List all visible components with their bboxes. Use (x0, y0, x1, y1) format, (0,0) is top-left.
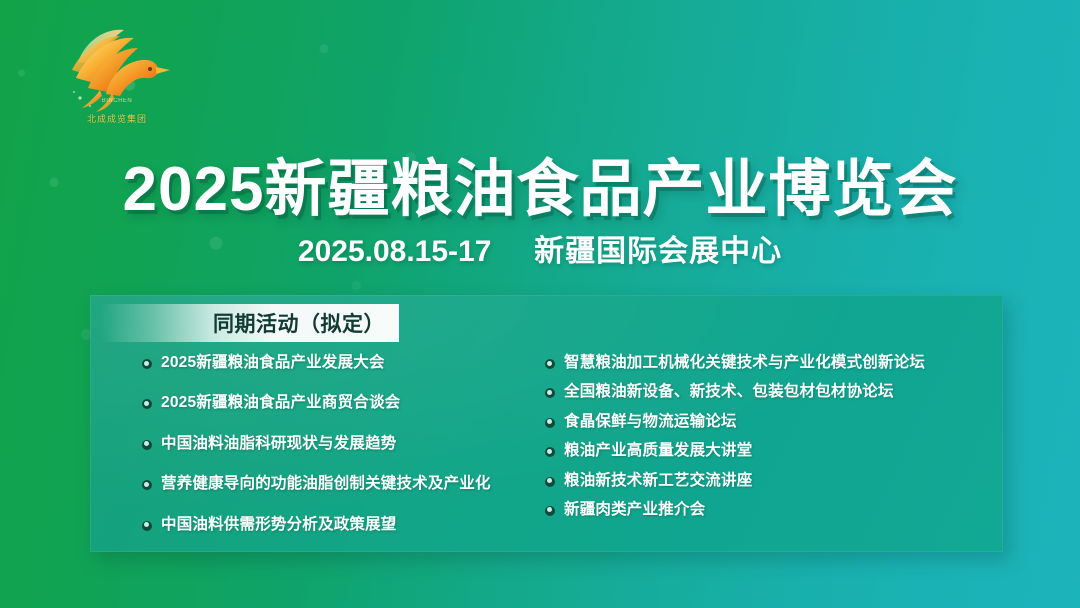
list-item[interactable]: 中国油料油脂科研现状与发展趋势 (142, 434, 545, 453)
bullet-icon (545, 506, 555, 516)
bullet-icon (545, 388, 555, 398)
poster-canvas: BINCHEN 北成成览集团 2025新疆粮油食品产业博览会 2025.08.1… (0, 0, 1080, 608)
bullet-icon (142, 480, 152, 490)
list-item[interactable]: 新疆肉类产业推介会 (545, 500, 1003, 519)
list-item[interactable]: 粮油产业高质量发展大讲堂 (545, 441, 1003, 460)
bullet-icon (142, 399, 152, 409)
event-venue: 新疆国际会展中心 (534, 235, 782, 268)
list-item-label: 营养健康导向的功能油脂创制关键技术及产业化 (161, 474, 491, 493)
bullet-icon (545, 418, 555, 428)
bullet-icon (545, 447, 555, 457)
activities-panel: 同期活动（拟定） 2025新疆粮油食品产业发展大会2025新疆粮油食品产业商贸合… (90, 295, 1003, 552)
list-item-label: 粮油产业高质量发展大讲堂 (564, 441, 752, 460)
section-banner: 同期活动（拟定） (100, 304, 399, 342)
list-item[interactable]: 食晶保鲜与物流运输论坛 (545, 412, 1003, 431)
bullet-icon (142, 440, 152, 450)
activities-left-column: 2025新疆粮油食品产业发展大会2025新疆粮油食品产业商贸合谈会中国油料油脂科… (90, 353, 545, 534)
event-subtitle: 2025.08.15-17 新疆国际会展中心 (0, 226, 1080, 270)
list-item-label: 智慧粮油加工机械化关键技术与产业化模式创新论坛 (564, 353, 925, 372)
activities-right-column: 智慧粮油加工机械化关键技术与产业化模式创新论坛全国粮油新设备、新技术、包装包材包… (545, 353, 1003, 534)
list-item-label: 中国油料油脂科研现状与发展趋势 (161, 434, 397, 453)
list-item-label: 中国油料供需形势分析及政策展望 (161, 515, 397, 534)
list-item[interactable]: 营养健康导向的功能油脂创制关键技术及产业化 (142, 474, 545, 493)
bullet-icon (545, 359, 555, 369)
list-item-label: 全国粮油新设备、新技术、包装包材包材协论坛 (564, 382, 894, 401)
list-item-label: 食晶保鲜与物流运输论坛 (564, 412, 737, 431)
list-item[interactable]: 粮油新技术新工艺交流讲座 (545, 471, 1003, 490)
logo: BINCHEN 北成成览集团 (62, 22, 172, 134)
list-item[interactable]: 全国粮油新设备、新技术、包装包材包材协论坛 (545, 382, 1003, 401)
list-item[interactable]: 2025新疆粮油食品产业发展大会 (142, 353, 545, 372)
bullet-icon (545, 477, 555, 487)
bullet-icon (142, 359, 152, 369)
bullet-icon (142, 521, 152, 531)
list-item[interactable]: 智慧粮油加工机械化关键技术与产业化模式创新论坛 (545, 353, 1003, 372)
activities-columns: 2025新疆粮油食品产业发展大会2025新疆粮油食品产业商贸合谈会中国油料油脂科… (90, 353, 1003, 534)
list-item-label: 2025新疆粮油食品产业发展大会 (161, 353, 385, 372)
page-title: 2025新疆粮油食品产业博览会 (0, 138, 1080, 228)
list-item[interactable]: 2025新疆粮油食品产业商贸合谈会 (142, 393, 545, 412)
list-item-label: 粮油新技术新工艺交流讲座 (564, 471, 752, 490)
logo-caption: 北成成览集团 (62, 112, 172, 125)
list-item[interactable]: 中国油料供需形势分析及政策展望 (142, 515, 545, 534)
event-date: 2025.08.15-17 (298, 235, 492, 268)
logo-subcaption: BINCHEN (62, 98, 172, 104)
list-item-label: 新疆肉类产业推介会 (564, 500, 705, 519)
section-title: 同期活动（拟定） (213, 308, 385, 338)
list-item-label: 2025新疆粮油食品产业商贸合谈会 (161, 393, 400, 412)
